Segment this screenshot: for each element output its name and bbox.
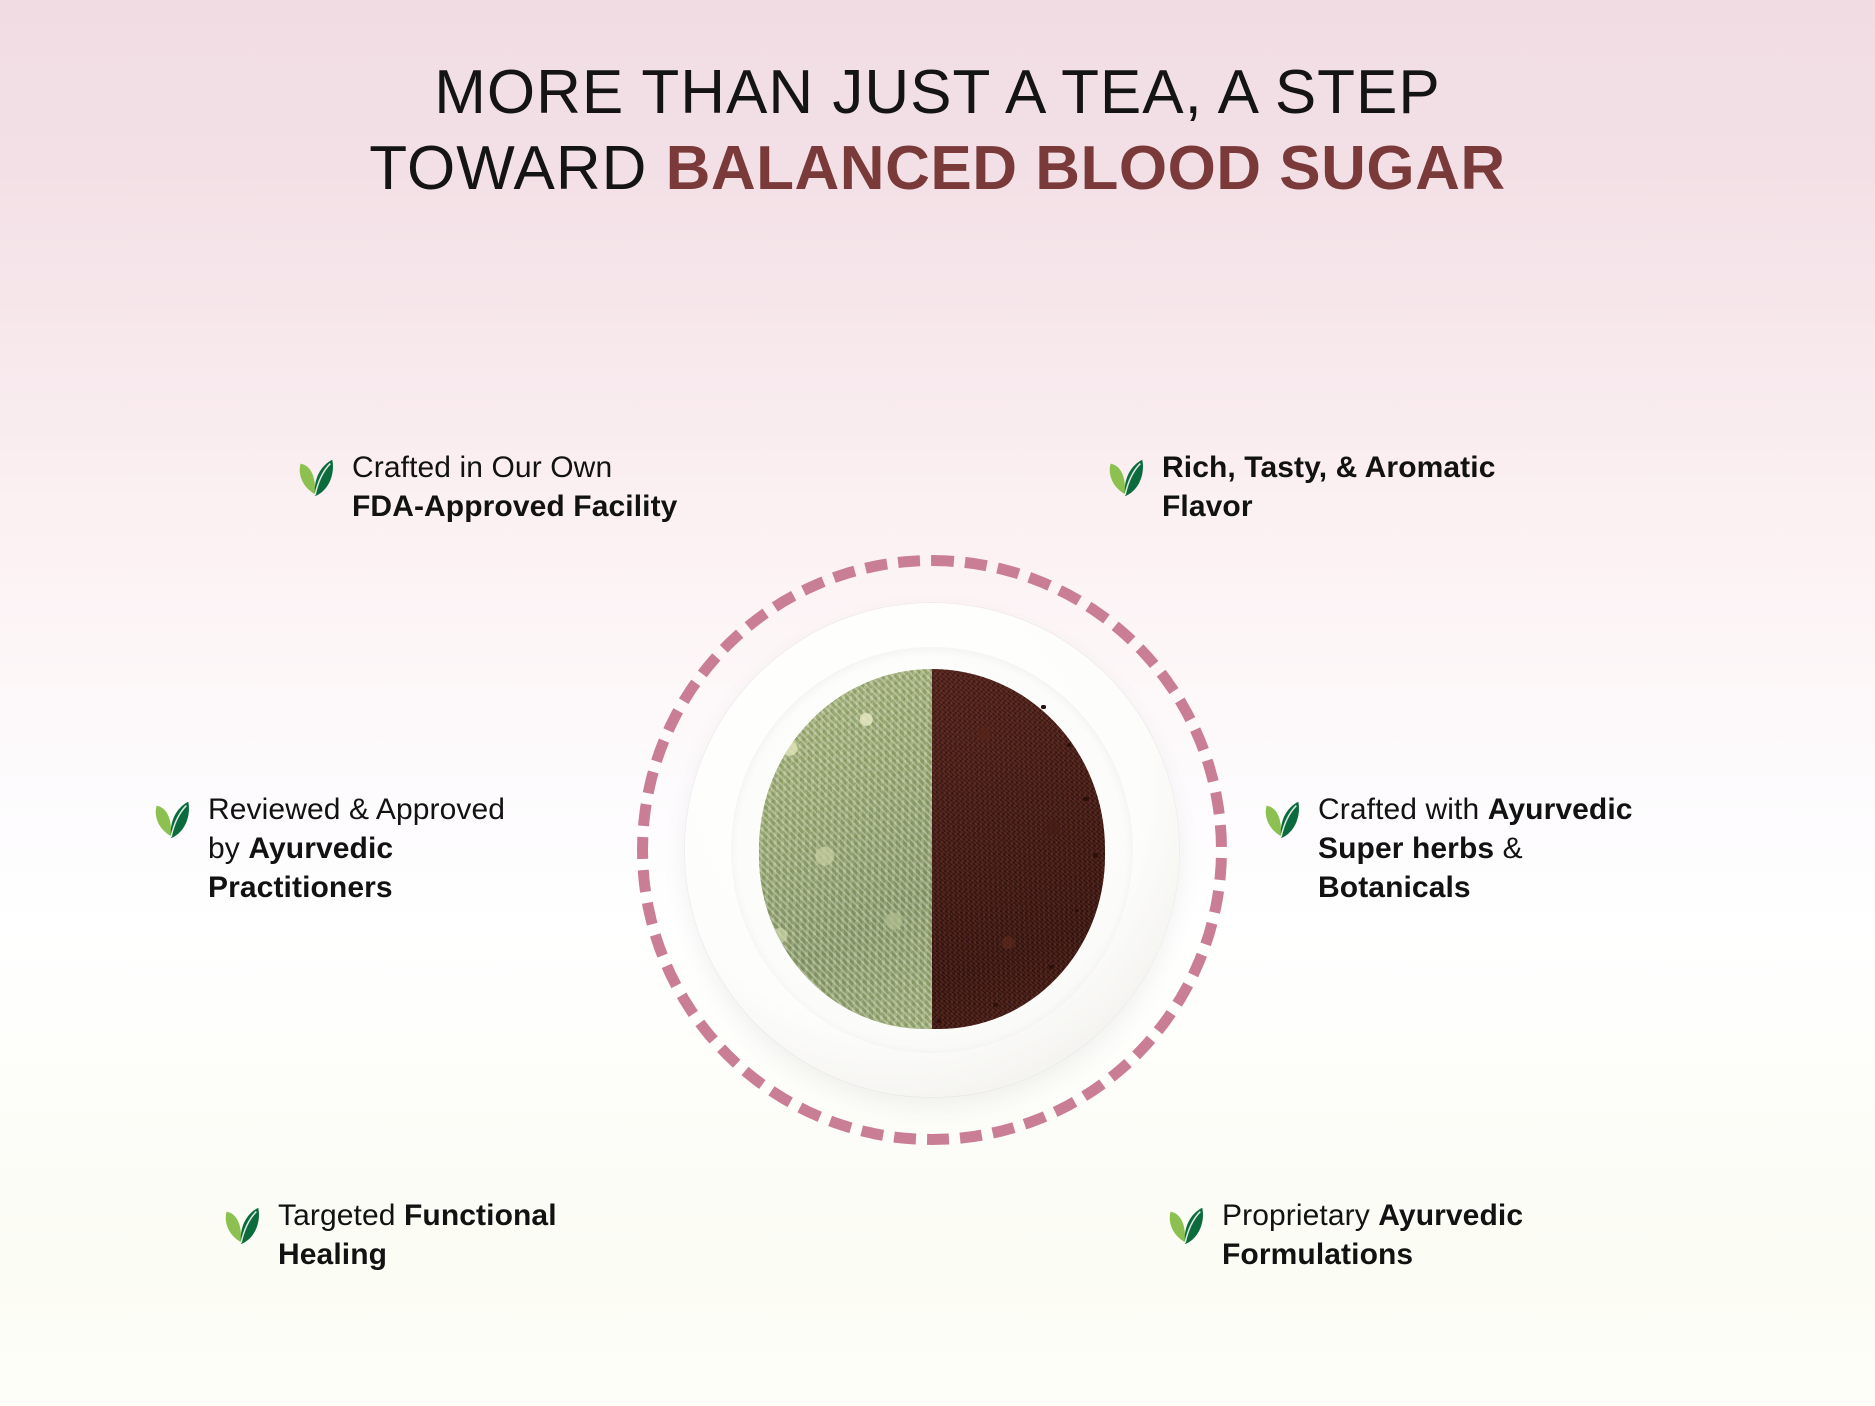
feature-text: Rich, Tasty, & Aromatic Flavor bbox=[1162, 448, 1496, 526]
tea-speck bbox=[1049, 965, 1054, 969]
leaf-icon bbox=[1102, 454, 1148, 500]
feature-line-2-bold: Ayurvedic bbox=[248, 832, 393, 865]
feature-line-3-bold: Practitioners bbox=[208, 871, 393, 904]
feature-reviewed-by-ayurvedic-practitioners: Reviewed & Approved by Ayurvedic Practit… bbox=[148, 790, 578, 907]
black-tea-granules bbox=[932, 669, 1105, 1029]
feature-line-2-bold: Healing bbox=[278, 1238, 387, 1271]
tea-bowl-figure bbox=[637, 555, 1227, 1145]
tea-speck bbox=[993, 1003, 998, 1007]
feature-targeted-functional-healing: Targeted Functional Healing bbox=[218, 1196, 638, 1274]
leaf-icon bbox=[148, 796, 194, 842]
infographic-canvas: MORE THAN JUST A TEA, A STEP TOWARD BALA… bbox=[0, 0, 1875, 1406]
feature-line-2-bold: FDA-Approved Facility bbox=[352, 490, 677, 523]
tea-speck bbox=[937, 1019, 941, 1023]
feature-text: Crafted in Our Own FDA-Approved Facility bbox=[352, 448, 677, 526]
feature-line-1-bold: Ayurvedic bbox=[1378, 1199, 1523, 1232]
feature-text: Crafted with Ayurvedic Super herbs & Bot… bbox=[1318, 790, 1633, 907]
feature-line-2-bold: Super herbs bbox=[1318, 832, 1494, 865]
feature-line-3-bold: Botanicals bbox=[1318, 871, 1471, 904]
feature-line-2-bold: Flavor bbox=[1162, 490, 1253, 523]
feature-line-1-bold: Functional bbox=[404, 1199, 557, 1232]
feature-line-1-bold: Ayurvedic bbox=[1488, 793, 1633, 826]
bowl-interior bbox=[731, 647, 1133, 1053]
green-tea-leaves bbox=[759, 669, 932, 1029]
feature-line-1-light: Proprietary bbox=[1222, 1199, 1378, 1232]
bowl-rim bbox=[685, 603, 1179, 1097]
leaf-icon bbox=[292, 454, 338, 500]
tea-speck bbox=[1075, 909, 1079, 912]
feature-line-1-light: Targeted bbox=[278, 1199, 404, 1232]
feature-text: Proprietary Ayurvedic Formulations bbox=[1222, 1196, 1523, 1274]
feature-line-1-light: Crafted with bbox=[1318, 793, 1488, 826]
tea-speck bbox=[1083, 797, 1089, 801]
feature-ayurvedic-super-herbs-botanicals: Crafted with Ayurvedic Super herbs & Bot… bbox=[1258, 790, 1688, 907]
feature-text: Reviewed & Approved by Ayurvedic Practit… bbox=[208, 790, 505, 907]
headline-line-1: MORE THAN JUST A TEA, A STEP bbox=[0, 55, 1875, 131]
leaf-icon bbox=[218, 1202, 264, 1248]
headline-line-2: TOWARD BALANCED BLOOD SUGAR bbox=[0, 131, 1875, 207]
feature-rich-tasty-aromatic-flavor: Rich, Tasty, & Aromatic Flavor bbox=[1102, 448, 1542, 526]
tea-speck bbox=[1041, 705, 1046, 709]
feature-fda-approved-facility: Crafted in Our Own FDA-Approved Facility bbox=[292, 448, 712, 526]
leaf-icon bbox=[1162, 1202, 1208, 1248]
feature-line-1-light: Reviewed & Approved bbox=[208, 793, 505, 826]
headline-line-2-accent: BALANCED BLOOD SUGAR bbox=[666, 134, 1506, 203]
headline-line-2-light: TOWARD bbox=[369, 134, 665, 203]
leaf-icon bbox=[1258, 796, 1304, 842]
feature-line-1-light: Crafted in Our Own bbox=[352, 451, 612, 484]
feature-line-1-bold: Rich, Tasty, & Aromatic bbox=[1162, 451, 1496, 484]
page-title: MORE THAN JUST A TEA, A STEP TOWARD BALA… bbox=[0, 55, 1875, 206]
tea-speck bbox=[1093, 853, 1098, 858]
feature-line-2-light: & bbox=[1494, 832, 1523, 865]
feature-proprietary-ayurvedic-formulations: Proprietary Ayurvedic Formulations bbox=[1162, 1196, 1602, 1274]
feature-line-2-light: by bbox=[208, 832, 248, 865]
tea-mound bbox=[759, 669, 1105, 1029]
tea-speck bbox=[1067, 743, 1071, 747]
feature-text: Targeted Functional Healing bbox=[278, 1196, 557, 1274]
feature-line-2-bold: Formulations bbox=[1222, 1238, 1413, 1271]
